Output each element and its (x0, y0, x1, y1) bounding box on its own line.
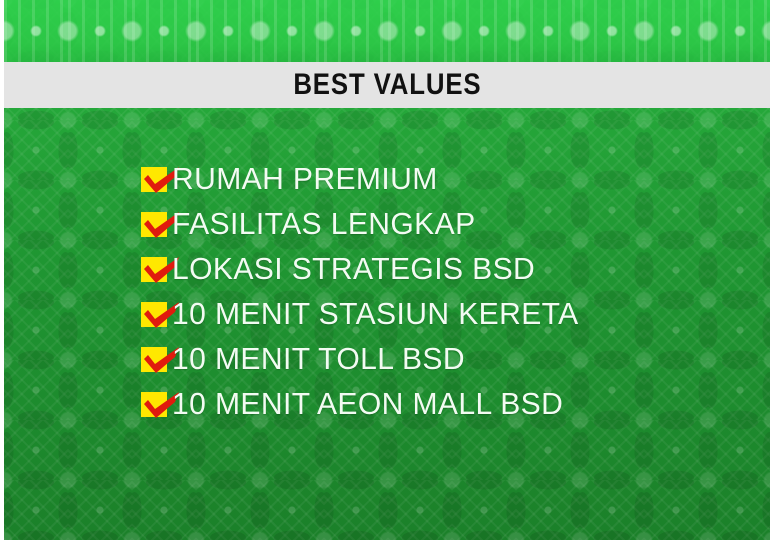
presentation-slide: BEST VALUES RUMAH PREMIUM FASILITAS LENG… (0, 0, 780, 540)
list-item-label: 10 MENIT STASIUN KERETA (172, 298, 579, 329)
list-item: 10 MENIT STASIUN KERETA (140, 291, 770, 336)
page-title: BEST VALUES (293, 68, 481, 102)
yellow-square-red-check-icon (140, 389, 174, 419)
title-banner: BEST VALUES (4, 62, 770, 108)
list-item: RUMAH PREMIUM (140, 156, 770, 201)
list-item-label: 10 MENIT AEON MALL BSD (172, 388, 563, 419)
list-item-label: FASILITAS LENGKAP (172, 208, 476, 239)
yellow-square-red-check-icon (140, 164, 174, 194)
yellow-square-red-check-icon (140, 209, 174, 239)
list-item: FASILITAS LENGKAP (140, 201, 770, 246)
list-item-label: LOKASI STRATEGIS BSD (172, 253, 535, 284)
top-band-pattern-overlay (4, 0, 770, 62)
list-item-label: RUMAH PREMIUM (172, 163, 438, 194)
best-values-list: RUMAH PREMIUM FASILITAS LENGKAP LOKASI S… (140, 156, 770, 426)
yellow-square-red-check-icon (140, 254, 174, 284)
yellow-square-red-check-icon (140, 344, 174, 374)
list-item: LOKASI STRATEGIS BSD (140, 246, 770, 291)
right-page-margin (770, 0, 780, 540)
list-item: 10 MENIT TOLL BSD (140, 336, 770, 381)
yellow-square-red-check-icon (140, 299, 174, 329)
list-item-label: 10 MENIT TOLL BSD (172, 343, 465, 374)
list-item: 10 MENIT AEON MALL BSD (140, 381, 770, 426)
